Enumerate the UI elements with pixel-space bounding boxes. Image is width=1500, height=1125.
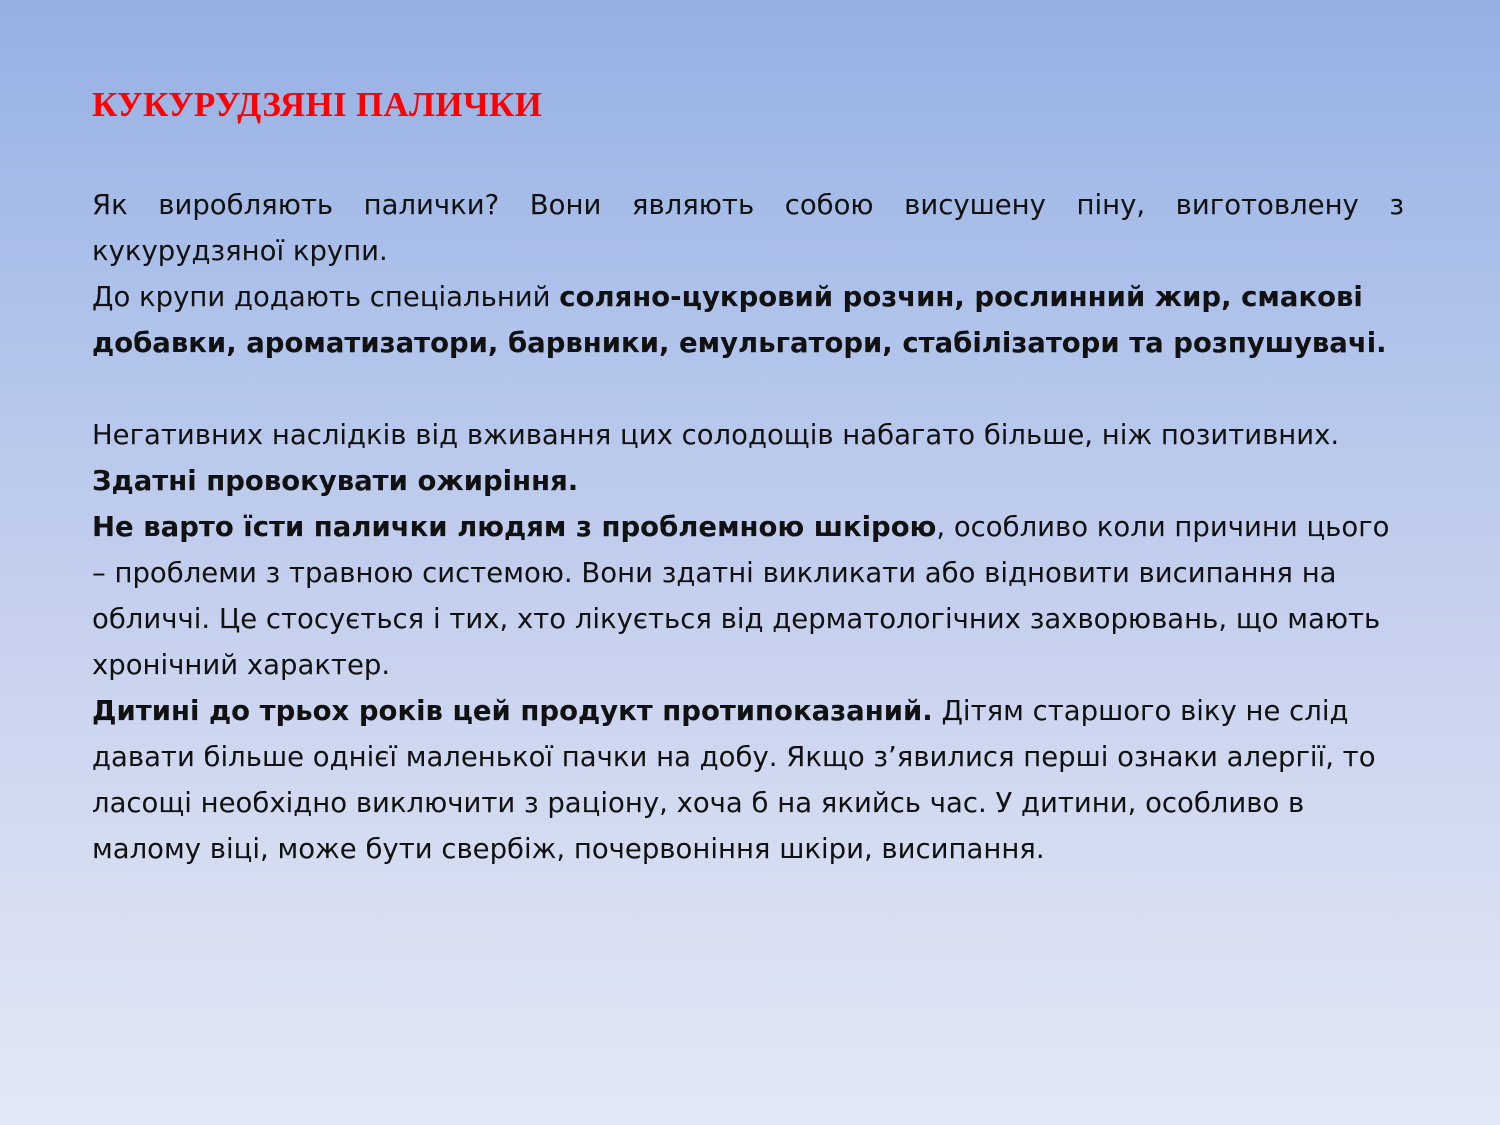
slide-body: Як виробляють палички? Вони являють собо… — [92, 182, 1404, 872]
paragraph-negative-effects: Негативних наслідків від вживання цих со… — [92, 412, 1404, 458]
paragraph-negative-effects-text: Негативних наслідків від вживання цих со… — [92, 419, 1339, 451]
paragraph-skin-problems: Не варто їсти палички людям з проблемною… — [92, 504, 1404, 688]
paragraph-skin-problems-bold: Не варто їсти палички людям з проблемною… — [92, 511, 936, 543]
paragraph-additives-lead: До крупи додають спеціальний — [92, 281, 559, 313]
paragraph-additives: До крупи додають спеціальний соляно-цукр… — [92, 274, 1404, 366]
paragraph-obesity-bold: Здатні провокувати ожиріння. — [92, 465, 578, 497]
paragraph-spacer — [92, 366, 1404, 412]
paragraph-production-text: Як виробляють палички? Вони являють собо… — [92, 189, 1404, 267]
page-title: КУКУРУДЗЯНІ ПАЛИЧКИ — [92, 84, 1412, 126]
slide-canvas: КУКУРУДЗЯНІ ПАЛИЧКИ Як виробляють паличк… — [0, 0, 1500, 1125]
paragraph-children-warning: Дитині до трьох років цей продукт протип… — [92, 688, 1404, 872]
paragraph-obesity: Здатні провокувати ожиріння. — [92, 458, 1404, 504]
paragraph-production: Як виробляють палички? Вони являють собо… — [92, 182, 1404, 274]
paragraph-children-warning-bold: Дитині до трьох років цей продукт протип… — [92, 695, 933, 727]
